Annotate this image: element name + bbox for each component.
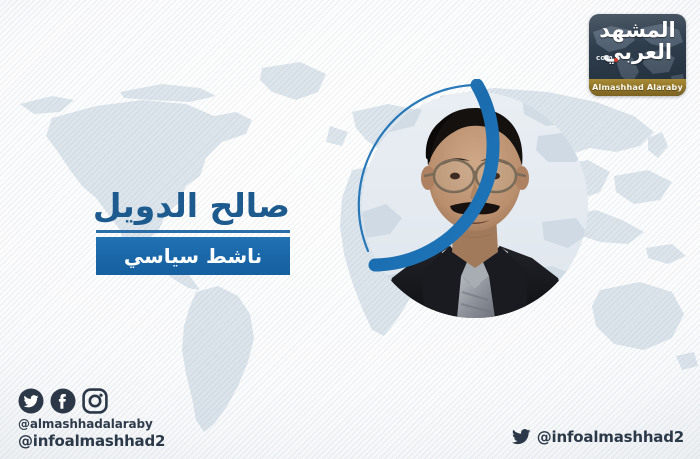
social-handle-secondary[interactable]: @infoalmashhad2: [18, 432, 165, 451]
social-media-card: المشهد العربي com Almashhad Alaraby: [0, 0, 700, 459]
social-icon-row: [18, 388, 165, 414]
instagram-icon[interactable]: [82, 388, 108, 414]
facebook-icon[interactable]: [50, 388, 76, 414]
footer-handle-text: @infoalmashhad2: [537, 428, 684, 446]
logo-red-dot: [614, 58, 618, 62]
channel-logo[interactable]: المشهد العربي com Almashhad Alaraby: [589, 14, 686, 96]
twitter-icon[interactable]: [18, 388, 44, 414]
name-underline: [96, 230, 290, 233]
person-title-badge: ناشط سياسي: [96, 237, 290, 275]
logo-line-1: المشهد: [589, 20, 686, 41]
portrait-container: [349, 79, 601, 331]
person-title-text: ناشط سياسي: [124, 244, 262, 268]
person-name: صالح الدويل: [0, 186, 290, 225]
twitter-icon: [512, 429, 531, 445]
logo-com-label: com: [596, 54, 613, 62]
portrait-ring: [349, 79, 601, 331]
logo-caption: Almashhad Alaraby: [589, 79, 686, 96]
footer-twitter-handle[interactable]: @infoalmashhad2: [512, 428, 684, 446]
social-block: @almashhadalaraby @infoalmashhad2: [18, 388, 165, 451]
social-handle-primary[interactable]: @almashhadalaraby: [18, 417, 165, 432]
